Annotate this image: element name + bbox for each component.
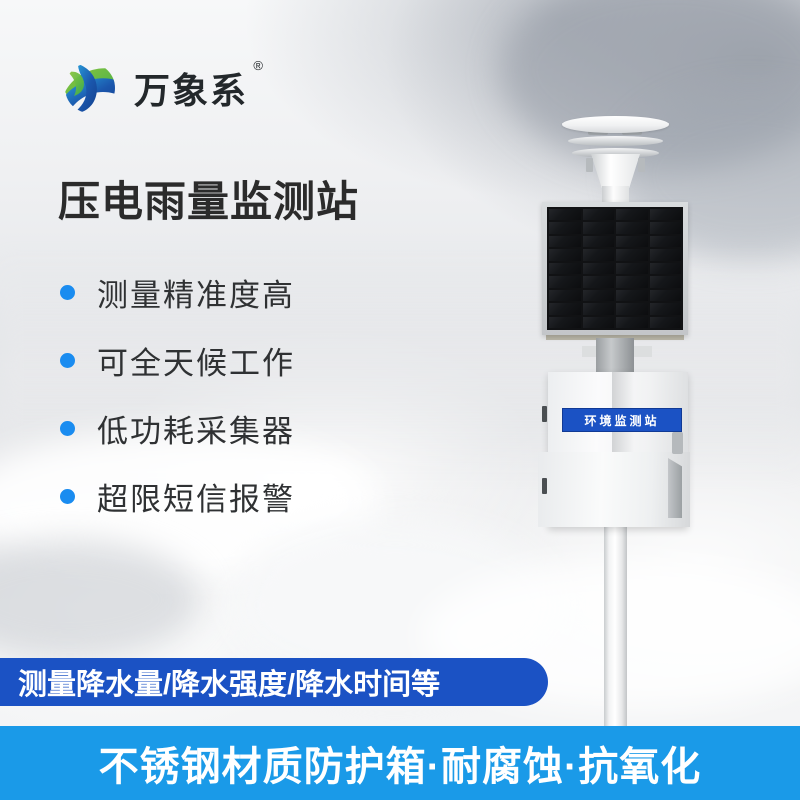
globe-swoosh-logo-icon [60, 58, 120, 118]
sensor-tab [638, 158, 645, 172]
enclosure-lower-face [538, 452, 690, 527]
list-item: 低功耗采集器 [60, 394, 295, 462]
feature-label: 测量精准度高 [97, 270, 295, 315]
capability-banner: 测量降水量/降水强度/降水时间等 [0, 658, 548, 706]
feature-label: 低功耗采集器 [97, 406, 295, 451]
enclosure-hinge [542, 406, 547, 422]
feature-label: 超限短信报警 [97, 474, 295, 519]
blue-dot-icon [60, 353, 75, 368]
blue-dot-icon [60, 285, 75, 300]
enclosure-label-text: 环境监测站 [584, 412, 659, 429]
feature-list: 测量精准度高 可全天候工作 低功耗采集器 超限短信报警 [60, 258, 295, 530]
list-item: 可全天候工作 [60, 326, 295, 394]
sensor-tab [586, 158, 593, 172]
page-title: 压电雨量监测站 [58, 168, 359, 229]
footer-banner: 不锈钢材质防护箱·耐腐蚀·抗氧化 [0, 726, 800, 800]
brand-logo: 万象系 ® [60, 58, 248, 118]
list-item: 测量精准度高 [60, 258, 295, 326]
sensor-cap [562, 116, 669, 133]
product-banner: 万象系 ® 压电雨量监测站 测量精准度高 可全天候工作 低功耗采集器 超限短信报… [0, 0, 800, 800]
enclosure-label: 环境监测站 [562, 408, 682, 432]
enclosure-fin [668, 458, 682, 518]
sensor-plate [568, 136, 663, 146]
capability-banner-text: 测量降水量/降水强度/降水时间等 [0, 661, 440, 703]
brand-name: 万象系 ® [134, 62, 248, 114]
mounting-bracket [596, 338, 634, 372]
blue-dot-icon [60, 421, 75, 436]
product-image: 环境监测站 [500, 100, 740, 680]
rain-sensor-head [558, 108, 673, 208]
footer-banner-text: 不锈钢材质防护箱·耐腐蚀·抗氧化 [99, 734, 702, 792]
registered-trademark-icon: ® [253, 58, 265, 73]
solar-panel [542, 202, 688, 335]
list-item: 超限短信报警 [60, 462, 295, 530]
sensor-funnel [591, 154, 640, 188]
solar-cell-grid [547, 207, 683, 330]
blue-dot-icon [60, 489, 75, 504]
feature-label: 可全天候工作 [97, 338, 295, 383]
enclosure-hinge [542, 478, 547, 494]
brand-name-text: 万象系 [134, 70, 248, 111]
enclosure-vent [672, 432, 683, 454]
